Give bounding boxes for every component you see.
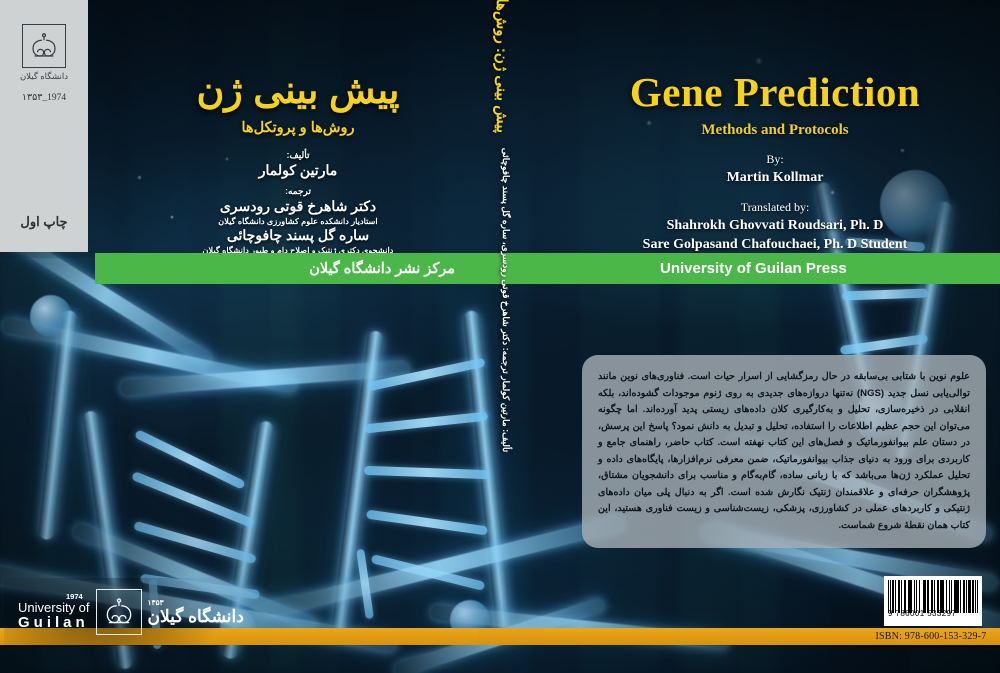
- back-cover-blurb: علوم نوین با شتابی بی‌سابقه در حال رمزگش…: [582, 355, 986, 548]
- publisher-green-band: [95, 253, 1000, 284]
- book-cover: دانشگاه گیلان ۱۳۵۳_1974 چاپ اول پیش بینی…: [0, 0, 1000, 673]
- front-cover-title-en: Gene Prediction: [560, 68, 990, 116]
- front-cover-author-block: By: Martin Kollmar: [560, 152, 990, 186]
- university-en-line1: University of: [18, 601, 90, 616]
- back-cover-credits: تألیف: مارتین کولمار ترجمه: دکتر شاهرخ ق…: [148, 148, 448, 255]
- publisher-band-en: University of Guilan Press: [660, 253, 847, 284]
- front-cover-translator-block: Translated by: Shahrokh Ghovvati Roudsar…: [560, 200, 990, 253]
- book-spine: پیش بینی ژن: روش‌ها و پروتکل‌ها تألیف: م…: [478, 0, 544, 673]
- spine-authors: تألیف: مارتین کولمار ترجمه: دکتر شاهرخ ق…: [500, 148, 511, 452]
- translator-label-fa: ترجمه:: [148, 186, 448, 197]
- university-year-fa: ۱۳۵۳: [148, 598, 244, 607]
- publisher-seal: دانشگاه گیلان ۱۳۵۳_1974: [11, 24, 77, 103]
- university-logo-lockup: 1974 University of Guilan ۱۳۵۳ دانشگاه گ…: [4, 578, 244, 646]
- guilan-university-seal-icon: [22, 24, 66, 68]
- back-cover-title-fa: پیش بینی ژن: [148, 68, 448, 113]
- spine-gold-band: [478, 628, 544, 645]
- university-name-en: 1974 University of Guilan: [4, 592, 90, 632]
- translator2-name-fa: ساره گل پسند چافوچائی: [148, 227, 448, 244]
- university-en-line2: Guilan: [18, 615, 90, 632]
- front-cover-subtitle-en: Methods and Protocols: [560, 122, 990, 139]
- university-name-fa-group: ۱۳۵۳ دانشگاه گیلان: [148, 598, 244, 627]
- back-cover-subtitle-fa: روش‌ها و پروتکل‌ها: [148, 120, 448, 136]
- guilan-university-seal-icon: [96, 589, 142, 635]
- translated-by-label: Translated by:: [560, 200, 990, 215]
- seal-name-fa: دانشگاه گیلان: [11, 71, 77, 82]
- translator2-name-en: Sare Golpasand Chafouchaei, Ph. D Studen…: [560, 237, 990, 253]
- ean13-barcode-icon: 9 786001 533297: [884, 576, 982, 626]
- university-name-fa: دانشگاه گیلان: [148, 607, 244, 627]
- edition-badge: چاپ اول: [0, 214, 88, 230]
- seal-year: ۱۳۵۳_1974: [11, 92, 77, 103]
- translator1-name-en: Shahrokh Ghovvati Roudsari, Ph. D: [560, 218, 990, 234]
- isbn-text: ISBN: 978-600-153-329-7: [868, 629, 994, 644]
- translator1-affiliation-fa: استادیار دانشکده علوم کشاورزی دانشگاه گی…: [148, 216, 448, 226]
- publisher-gray-panel: دانشگاه گیلان ۱۳۵۳_1974 چاپ اول: [0, 0, 88, 252]
- author-name-fa: مارتین کولمار: [148, 162, 448, 179]
- spine-title: پیش بینی ژن: روش‌ها و پروتکل‌ها: [493, 0, 511, 133]
- by-label: By:: [560, 152, 990, 167]
- author-name-en: Martin Kollmar: [560, 170, 990, 186]
- translator1-name-fa: دکتر شاهرخ قوتی رودسری: [148, 198, 448, 215]
- author-label-fa: تألیف:: [148, 150, 448, 161]
- publisher-band-fa: مرکز نشر دانشگاه گیلان: [309, 253, 455, 284]
